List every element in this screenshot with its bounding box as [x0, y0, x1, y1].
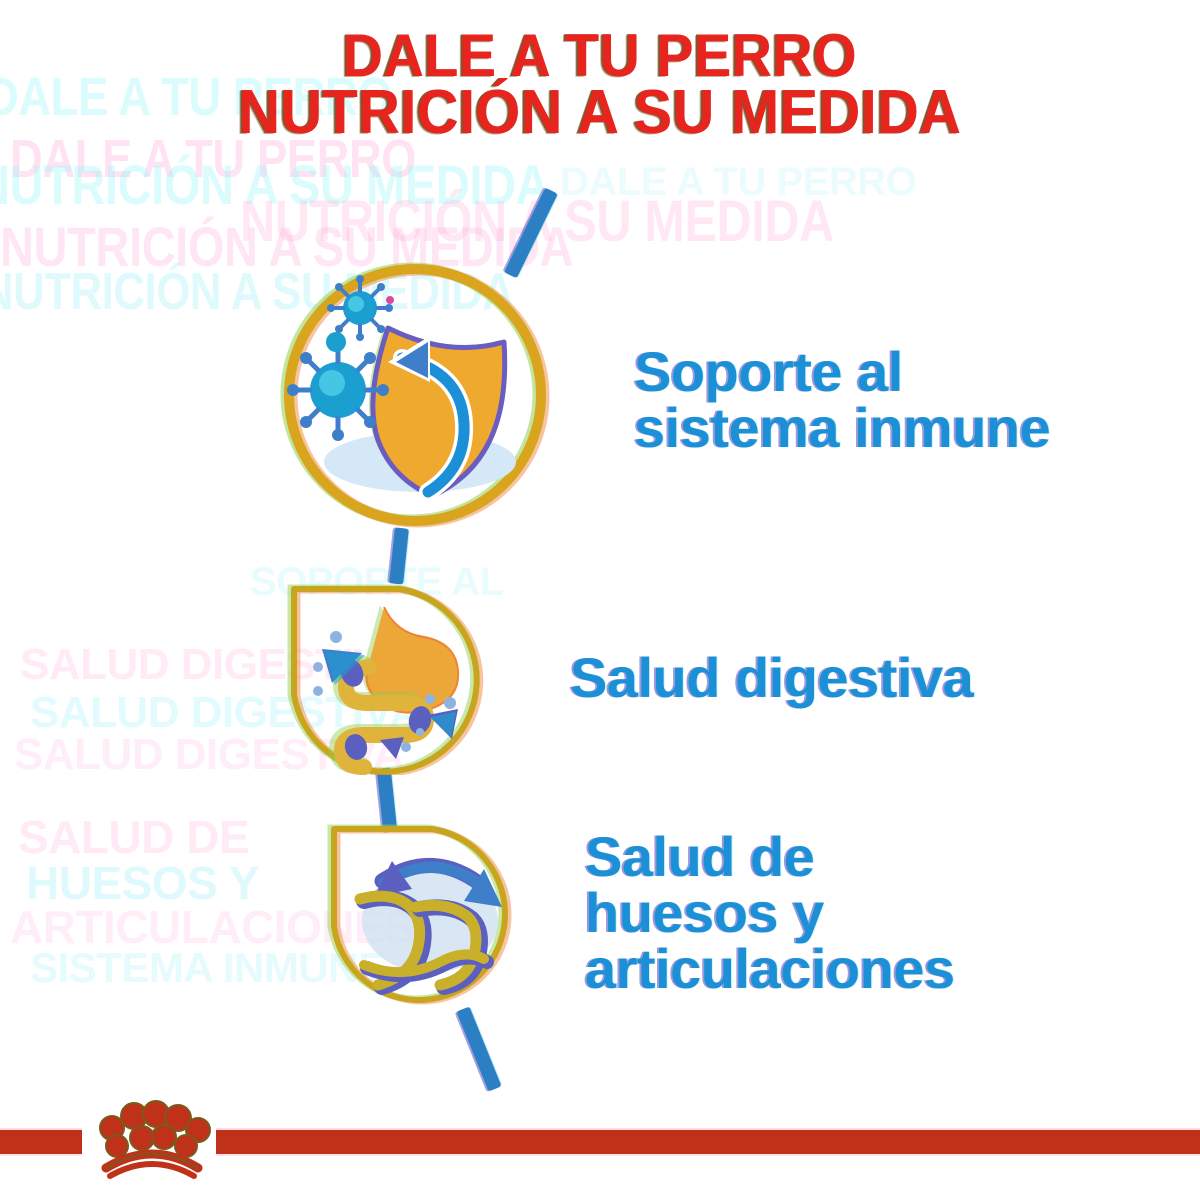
- benefit-list: Soporte al sistema inmune: [0, 0, 1200, 1080]
- footer-bar-left: [0, 1130, 82, 1154]
- page-title: DALE A TU PERRO NUTRICIÓN A SU MEDIDA: [0, 28, 1200, 143]
- benefit-label-line: huesos y: [585, 885, 955, 941]
- bone-joint-icon: [320, 815, 535, 1010]
- benefit-row-digestive[interactable]: Salud digestiva: [280, 575, 973, 780]
- stomach-intestine-icon-svg: [280, 575, 510, 775]
- crown-icon: [84, 1094, 218, 1180]
- footer-bar-right: [216, 1130, 1200, 1154]
- benefit-label-line: sistema inmune: [634, 400, 1050, 456]
- footer: [0, 1090, 1200, 1200]
- virus-particle: [327, 275, 394, 341]
- benefit-row-immune[interactable]: Soporte al sistema inmune: [270, 250, 1050, 545]
- headline-line-1: DALE A TU PERRO: [42, 28, 1158, 84]
- benefit-label-line: articulaciones: [585, 941, 955, 997]
- shield-virus-icon-svg: [270, 250, 560, 540]
- stomach-intestine-icon: [280, 575, 510, 780]
- bone-joint-icon-svg: [320, 815, 535, 1005]
- royal-canin-crown-logo: [84, 1094, 218, 1180]
- benefit-label-line: Salud de: [585, 829, 955, 885]
- benefit-label-digestive: Salud digestiva: [570, 650, 973, 706]
- benefit-label-immune: Soporte al sistema inmune: [634, 344, 1050, 456]
- headline-line-2: NUTRICIÓN A SU MEDIDA: [42, 84, 1158, 142]
- poster-canvas: DALE A TU PERRO DALE A TU PERRO NUTRICIÓ…: [0, 0, 1200, 1200]
- shield-virus-icon: [270, 250, 560, 545]
- virus-particle: [287, 339, 389, 441]
- benefit-label-line: Salud digestiva: [570, 650, 973, 706]
- benefit-label-bones-joints: Salud de huesos y articulaciones: [585, 829, 955, 997]
- benefit-row-bones-joints[interactable]: Salud de huesos y articulaciones: [320, 815, 955, 1010]
- benefit-label-line: Soporte al: [634, 344, 1050, 400]
